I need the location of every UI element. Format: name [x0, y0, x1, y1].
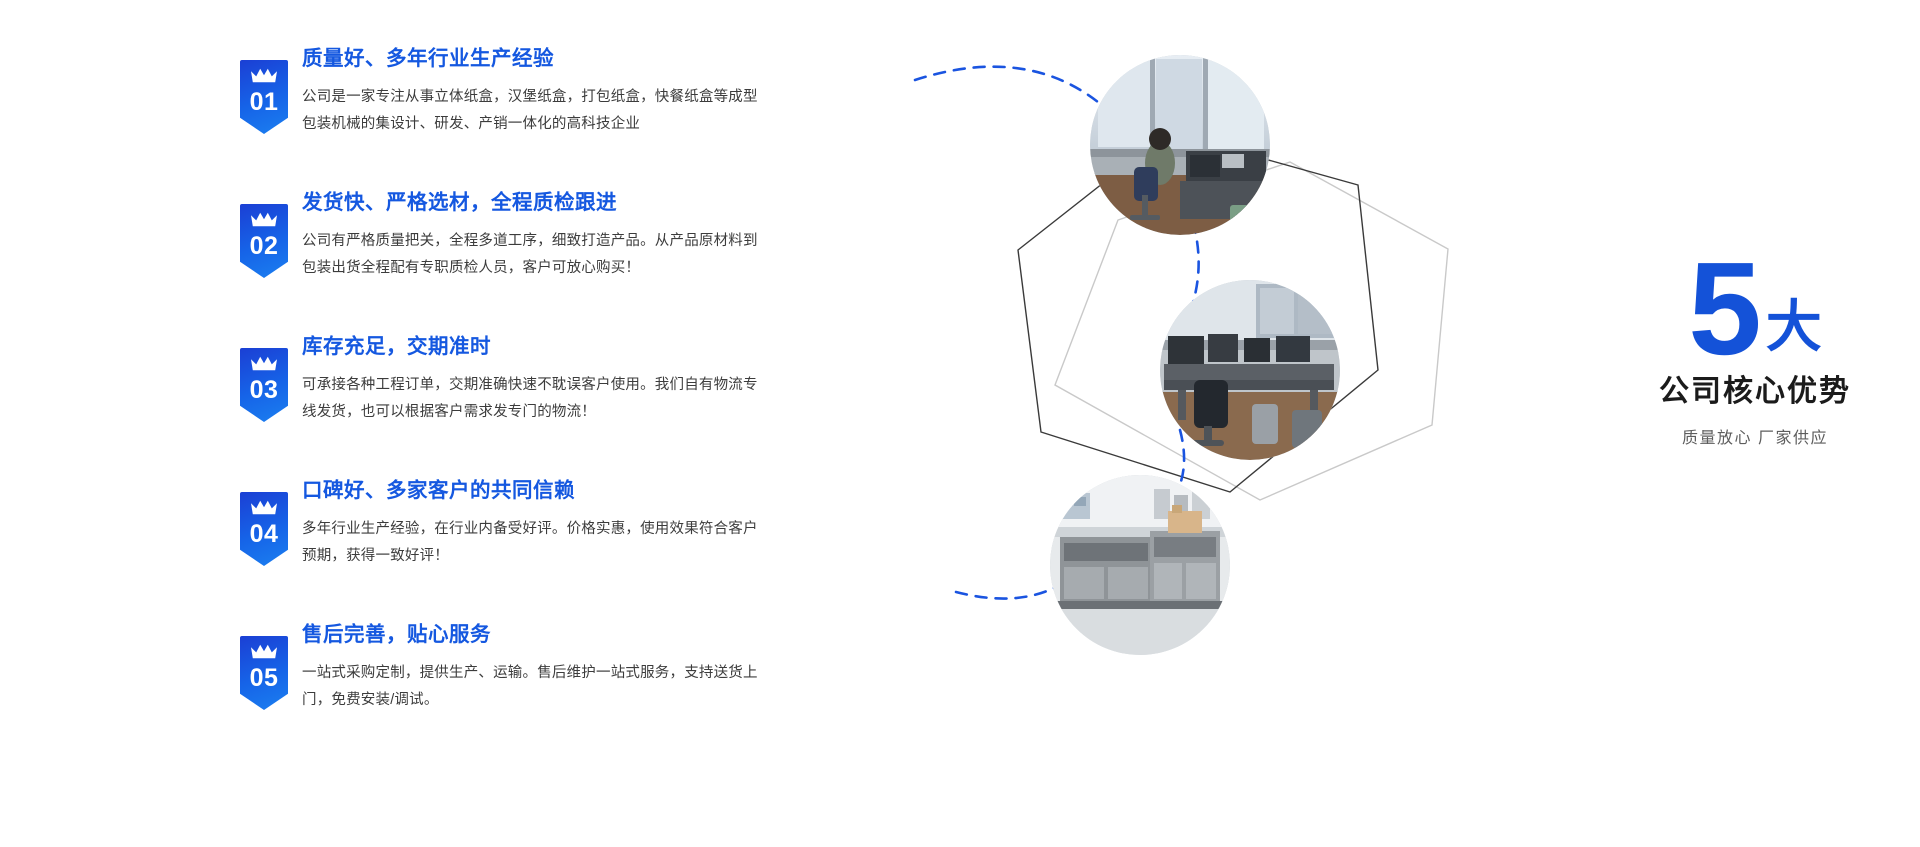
badge-number: 01: [250, 90, 279, 115]
feature-description: 一站式采购定制，提供生产、运输。售后维护一站式服务，支持送货上门，免费安装/调试…: [302, 660, 770, 714]
feature-badge-01: 01: [240, 60, 288, 134]
center-text-block: 5 大 公司核心优势 质量放心 厂家供应: [1605, 245, 1905, 448]
advantage-headline: 公司核心优势: [1605, 375, 1905, 410]
feature-body: 库存充足，交期准时 可承接各种工程订单，交期准确快速不耽误客户使用。我们自有物流…: [302, 334, 770, 426]
feature-badge-05: 05: [240, 636, 288, 710]
crown-icon: [250, 643, 278, 661]
list-item: 03 库存充足，交期准时 可承接各种工程订单，交期准确快速不耽误客户使用。我们自…: [240, 334, 770, 430]
feature-title: 口碑好、多家客户的共同信赖: [302, 480, 770, 503]
list-item: 02 发货快、严格选材，全程质检跟进 公司有严格质量把关，全程多道工序，细致打造…: [240, 190, 770, 286]
list-item: 05 售后完善，贴心服务 一站式采购定制，提供生产、运输。售后维护一站式服务，支…: [240, 622, 770, 718]
crown-icon: [250, 355, 278, 373]
office-workspace-photo: [1090, 55, 1270, 235]
advantage-graphic: 5 大 公司核心优势 质量放心 厂家供应: [760, 0, 1920, 847]
advantage-unit: 大: [1766, 299, 1822, 355]
badge-number: 02: [250, 234, 279, 259]
feature-description: 可承接各种工程订单，交期准确快速不耽误客户使用。我们自有物流专线发货，也可以根据…: [302, 372, 770, 426]
badge-number: 03: [250, 378, 279, 403]
crown-icon: [250, 499, 278, 517]
feature-title: 库存充足，交期准时: [302, 336, 770, 359]
feature-title: 发货快、严格选材，全程质检跟进: [302, 192, 770, 215]
crown-icon: [250, 67, 278, 85]
list-item: 04 口碑好、多家客户的共同信赖 多年行业生产经验，在行业内备受好评。价格实惠，…: [240, 478, 770, 574]
advantage-count: 5: [1688, 254, 1759, 365]
list-item: 01 质量好、多年行业生产经验 公司是一家专注从事立体纸盒，汉堡纸盒，打包纸盒，…: [240, 46, 770, 142]
feature-title: 售后完善，贴心服务: [302, 624, 770, 647]
feature-badge-02: 02: [240, 204, 288, 278]
big-number-row: 5 大: [1605, 245, 1905, 365]
feature-body: 口碑好、多家客户的共同信赖 多年行业生产经验，在行业内备受好评。价格实惠，使用效…: [302, 478, 770, 570]
feature-description: 公司是一家专注从事立体纸盒，汉堡纸盒，打包纸盒，快餐纸盒等成型包装机械的集设计、…: [302, 84, 770, 138]
badge-number: 04: [250, 522, 279, 547]
feature-list: 01 质量好、多年行业生产经验 公司是一家专注从事立体纸盒，汉堡纸盒，打包纸盒，…: [240, 46, 770, 718]
feature-badge-04: 04: [240, 492, 288, 566]
feature-body: 发货快、严格选材，全程质检跟进 公司有严格质量把关，全程多道工序，细致打造产品。…: [302, 190, 770, 282]
feature-description: 公司有严格质量把关，全程多道工序，细致打造产品。从产品原材料到包装出货全程配有专…: [302, 228, 770, 282]
feature-badge-03: 03: [240, 348, 288, 422]
dashed-arc-bottom: [956, 585, 1060, 599]
feature-body: 售后完善，贴心服务 一站式采购定制，提供生产、运输。售后维护一站式服务，支持送货…: [302, 622, 770, 714]
dashed-arc-top: [915, 67, 1118, 120]
badge-number: 05: [250, 666, 279, 691]
advantage-subline: 质量放心 厂家供应: [1605, 424, 1905, 448]
feature-title: 质量好、多年行业生产经验: [302, 48, 770, 71]
feature-body: 质量好、多年行业生产经验 公司是一家专注从事立体纸盒，汉堡纸盒，打包纸盒，快餐纸…: [302, 46, 770, 138]
factory-machine-photo: [1050, 475, 1230, 655]
feature-description: 多年行业生产经验，在行业内备受好评。价格实惠，使用效果符合客户预期，获得一致好评…: [302, 516, 770, 570]
promo-banner: 01 质量好、多年行业生产经验 公司是一家专注从事立体纸盒，汉堡纸盒，打包纸盒，…: [0, 0, 1920, 847]
crown-icon: [250, 211, 278, 229]
office-desks-photo: [1160, 280, 1340, 460]
